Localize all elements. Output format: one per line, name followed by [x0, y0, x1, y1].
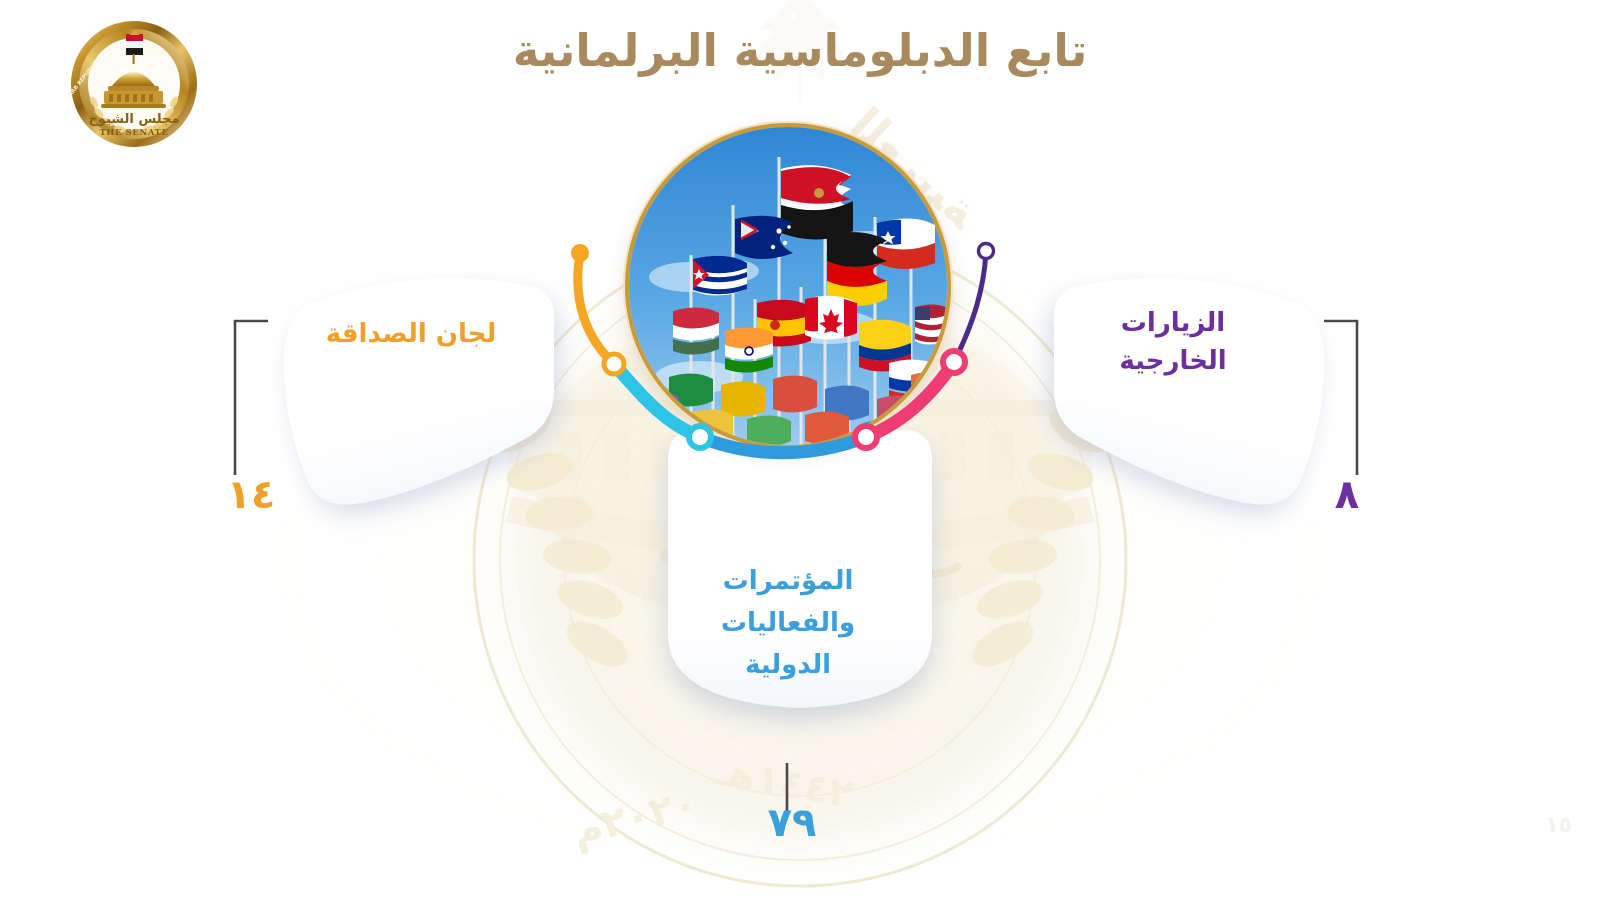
connector-orange-endpoint	[571, 244, 589, 262]
slide-root: ٢٠٢٠م ١٤٤٢هـ BLIC OF EGYPT ﺔﻴﺑﺮﻌﻟﺍ	[0, 0, 1600, 900]
connector-purple-endpoint	[979, 244, 994, 259]
node-pink-purple	[943, 351, 965, 373]
node-blue-pink	[855, 426, 877, 448]
node-orange-cyan	[604, 354, 624, 374]
connector-curves	[0, 0, 1600, 900]
connector-pink	[866, 362, 954, 437]
connector-cyan	[614, 364, 700, 437]
connector-orange	[578, 254, 614, 364]
node-cyan-blue	[689, 426, 711, 448]
connector-purple	[954, 252, 986, 362]
connector-blue	[700, 437, 866, 453]
